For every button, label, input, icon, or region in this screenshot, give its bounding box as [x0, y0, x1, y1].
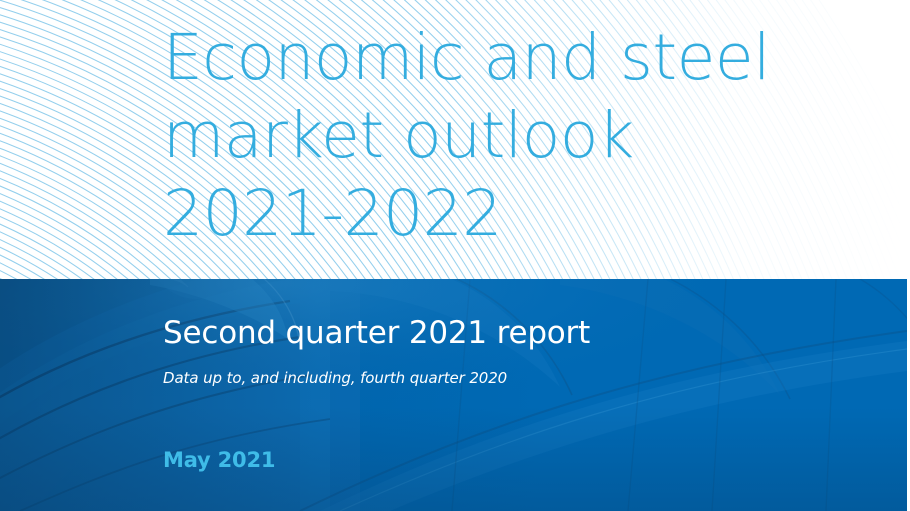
report-heading: Second quarter 2021 report — [163, 315, 590, 351]
report-date: May 2021 — [163, 447, 275, 473]
cover-blue-band: Second quarter 2021 report Data up to, a… — [0, 279, 907, 511]
cover-title: Economic and steel market outlook 2021-2… — [163, 19, 863, 253]
header-area: Economic and steel market outlook 2021-2… — [0, 0, 910, 279]
cover-title-line-1: Economic and steel — [163, 19, 863, 97]
cover-title-line-3: 2021-2022 — [163, 175, 863, 253]
report-subtitle: Data up to, and including, fourth quarte… — [163, 368, 507, 388]
cover-title-line-2: market outlook — [163, 97, 863, 175]
report-cover-page: Economic and steel market outlook 2021-2… — [0, 0, 910, 511]
steel-coil-background-art — [0, 279, 907, 511]
